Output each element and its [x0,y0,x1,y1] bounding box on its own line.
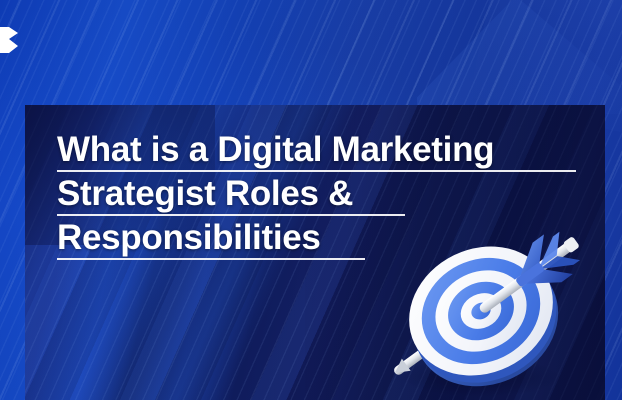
title-line-1-text: What is a Digital Marketing [57,130,494,169]
brand-logo-icon[interactable] [0,27,23,53]
title-line-2-underline [57,214,405,216]
title-line-1: What is a Digital Marketing [57,130,605,172]
blog-hero-banner: What is a Digital Marketing Strategist R… [0,0,622,400]
title-line-3-underline [57,258,365,260]
title-line-3-text: Responsibilities [57,218,321,257]
hero-card: What is a Digital Marketing Strategist R… [25,105,605,400]
title-line-2: Strategist Roles & [57,174,605,216]
title-line-2-text: Strategist Roles & [57,174,353,213]
title-line-3: Responsibilities [57,218,605,260]
title-line-1-underline [57,170,576,172]
hero-title: What is a Digital Marketing Strategist R… [57,130,605,262]
